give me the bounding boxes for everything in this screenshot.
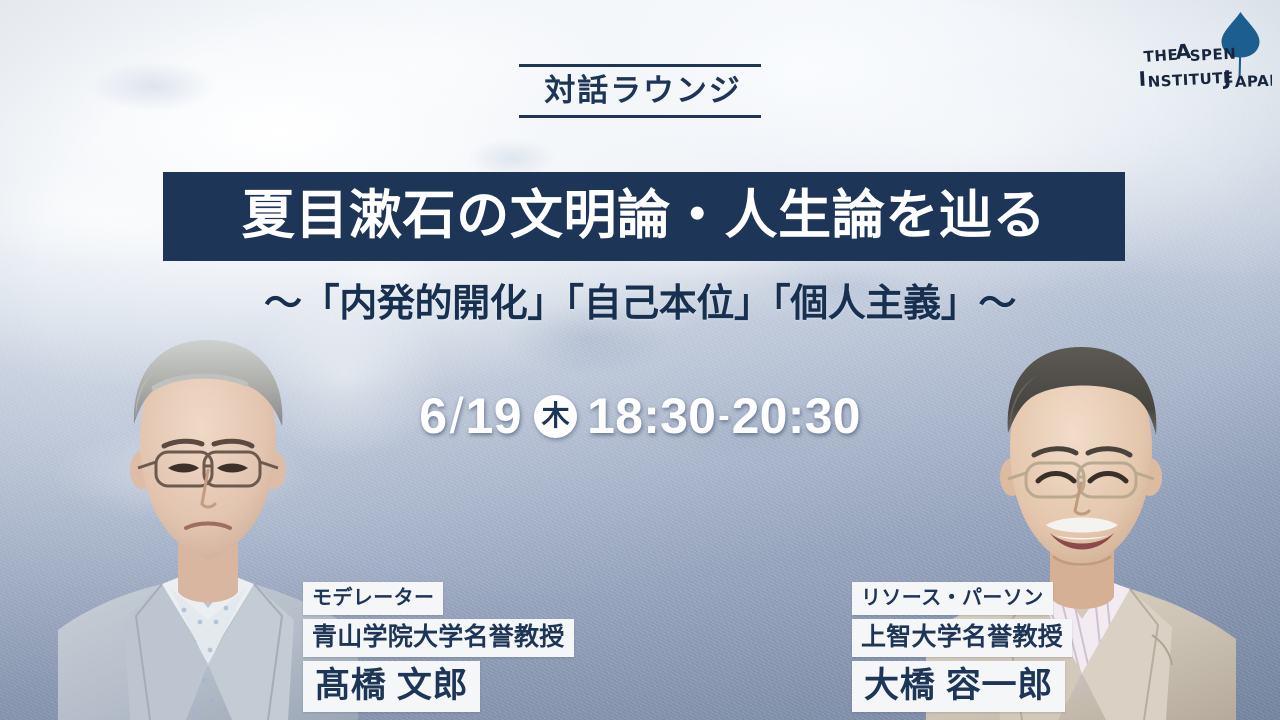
speaker-name-left: 髙橋 文郎 — [303, 661, 480, 712]
title-banner: 夏目漱石の文明論・人生論を辿る — [163, 172, 1125, 261]
svg-text:SPEN: SPEN — [1189, 45, 1236, 65]
weekday-badge: 木 — [534, 395, 577, 438]
page-title: 夏目漱石の文明論・人生論を辿る — [242, 189, 1047, 242]
speaker-role-left: モデレーター — [303, 582, 443, 615]
speaker-affiliation-left: 青山学院大学名誉教授 — [303, 619, 574, 657]
speaker-credit-left: モデレーター 青山学院大学名誉教授 髙橋 文郎 — [303, 582, 574, 712]
speaker-role-right: リソース・パーソン — [852, 582, 1053, 615]
date-separator: / — [448, 391, 466, 441]
svg-text:THE: THE — [1143, 46, 1179, 66]
event-end-time: 20:30 — [732, 391, 861, 441]
speaker-affiliation-right: 上智大学名誉教授 — [852, 619, 1072, 657]
event-poster: THE A SPEN I NSTITUTE J APAN 対話ラウンジ 夏目漱石… — [0, 0, 1280, 720]
series-label: 対話ラウンジ — [538, 67, 741, 115]
speaker-name-right: 大橋 容一郎 — [852, 661, 1065, 712]
series-label-block: 対話ラウンジ — [0, 64, 1280, 118]
event-month: 6 — [419, 391, 447, 441]
eyebrow-rule-bottom — [519, 115, 761, 118]
speaker-credit-right: リソース・パーソン 上智大学名誉教授 大橋 容一郎 — [852, 582, 1072, 712]
event-start-time: 18:30 — [587, 391, 716, 441]
time-range-dash: - — [716, 399, 731, 433]
event-day: 19 — [465, 391, 522, 441]
